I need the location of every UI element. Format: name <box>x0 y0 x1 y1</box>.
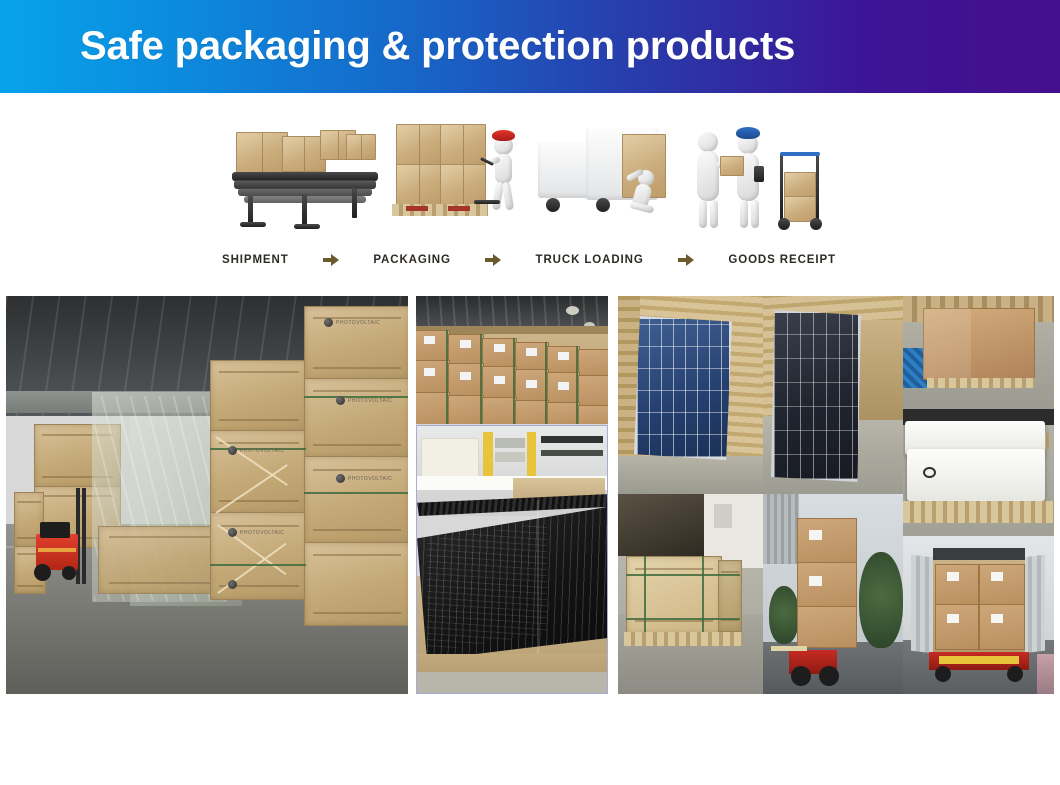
red-cap-icon <box>492 130 515 141</box>
process-step-labels: SHIPMENT PACKAGING TRUCK LOADING GOODS R… <box>222 250 836 270</box>
gallery-photo-forklift-outdoors <box>763 494 903 694</box>
slide-canvas: Safe packaging & protection products <box>0 0 1060 785</box>
gallery-photo-white-panel-pallet <box>903 409 1054 536</box>
truck-loading-illustration <box>534 114 686 234</box>
packaging-illustration <box>382 114 532 234</box>
gallery-photo-carton-blue-pallet <box>903 296 1054 409</box>
process-step-label-shipment: SHIPMENT <box>222 254 289 266</box>
shipment-illustration <box>230 114 378 234</box>
arrow-right-icon-1 <box>323 253 339 267</box>
gallery-photo-wooden-crate <box>618 494 763 694</box>
logistics-process-strip: SHIPMENT PACKAGING TRUCK LOADING GOODS R… <box>0 100 1060 285</box>
gallery-photo-warehouse-aisle: PHOTOVOLTAIC PHOTOVOLTAIC PHOTOVOLTAIC P… <box>6 296 408 694</box>
process-step-label-truck-loading: TRUCK LOADING <box>536 254 644 266</box>
title-banner: Safe packaging & protection products <box>0 0 1060 93</box>
gallery-photo-mono-panel <box>763 296 903 494</box>
gallery-photo-cartons-green-straps <box>416 296 608 424</box>
gallery-column-middle <box>416 296 608 694</box>
process-step-label-packaging: PACKAGING <box>373 254 451 266</box>
gallery-photo-poly-panel <box>618 296 763 494</box>
gallery-photo-container-truck <box>903 536 1054 694</box>
blue-cap-icon <box>736 127 760 139</box>
arrow-right-icon-2 <box>485 253 501 267</box>
process-step-label-goods-receipt: GOODS RECEIPT <box>728 254 836 266</box>
page-title: Safe packaging & protection products <box>80 20 1000 73</box>
process-illustration-row <box>222 114 836 234</box>
gallery-photo-black-solar-modules <box>416 425 608 694</box>
arrow-right-icon-3 <box>678 253 694 267</box>
photo-gallery: PHOTOVOLTAIC PHOTOVOLTAIC PHOTOVOLTAIC P… <box>0 296 1060 694</box>
gallery-column-right <box>618 296 1054 694</box>
goods-receipt-illustration <box>692 114 836 234</box>
